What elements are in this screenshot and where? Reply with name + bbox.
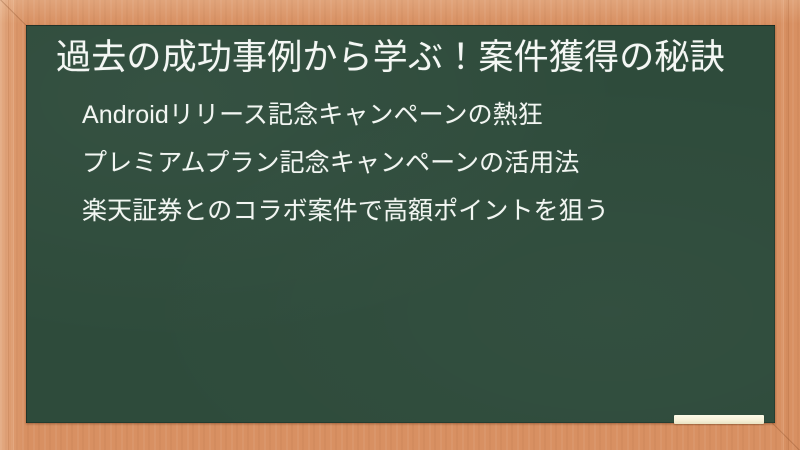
slide-bullet-list: Androidリリース記念キャンペーンの熱狂 プレミアムプラン記念キャンペーンの… [50, 103, 757, 224]
slide-title: 過去の成功事例から学ぶ！案件獲得の秘訣 [50, 31, 756, 81]
wood-grain-line [783, 0, 784, 450]
list-item: 楽天証券とのコラボ案件で高額ポイントを狙う [82, 199, 757, 224]
chalkboard-wooden-frame: 過去の成功事例から学ぶ！案件獲得の秘訣 Androidリリース記念キャンペーンの… [0, 0, 800, 450]
chalkboard-content: 過去の成功事例から学ぶ！案件獲得の秘訣 Androidリリース記念キャンペーンの… [26, 25, 775, 224]
list-item: Androidリリース記念キャンペーンの熱狂 [82, 103, 757, 128]
chalkboard-surface: 過去の成功事例から学ぶ！案件獲得の秘訣 Androidリリース記念キャンペーンの… [26, 25, 775, 423]
chalk-stick [674, 415, 764, 424]
wood-grain-line [788, 0, 789, 450]
wood-grain-line [8, 0, 9, 450]
list-item: プレミアムプラン記念キャンペーンの活用法 [82, 151, 757, 176]
wood-grain-line [13, 0, 14, 450]
